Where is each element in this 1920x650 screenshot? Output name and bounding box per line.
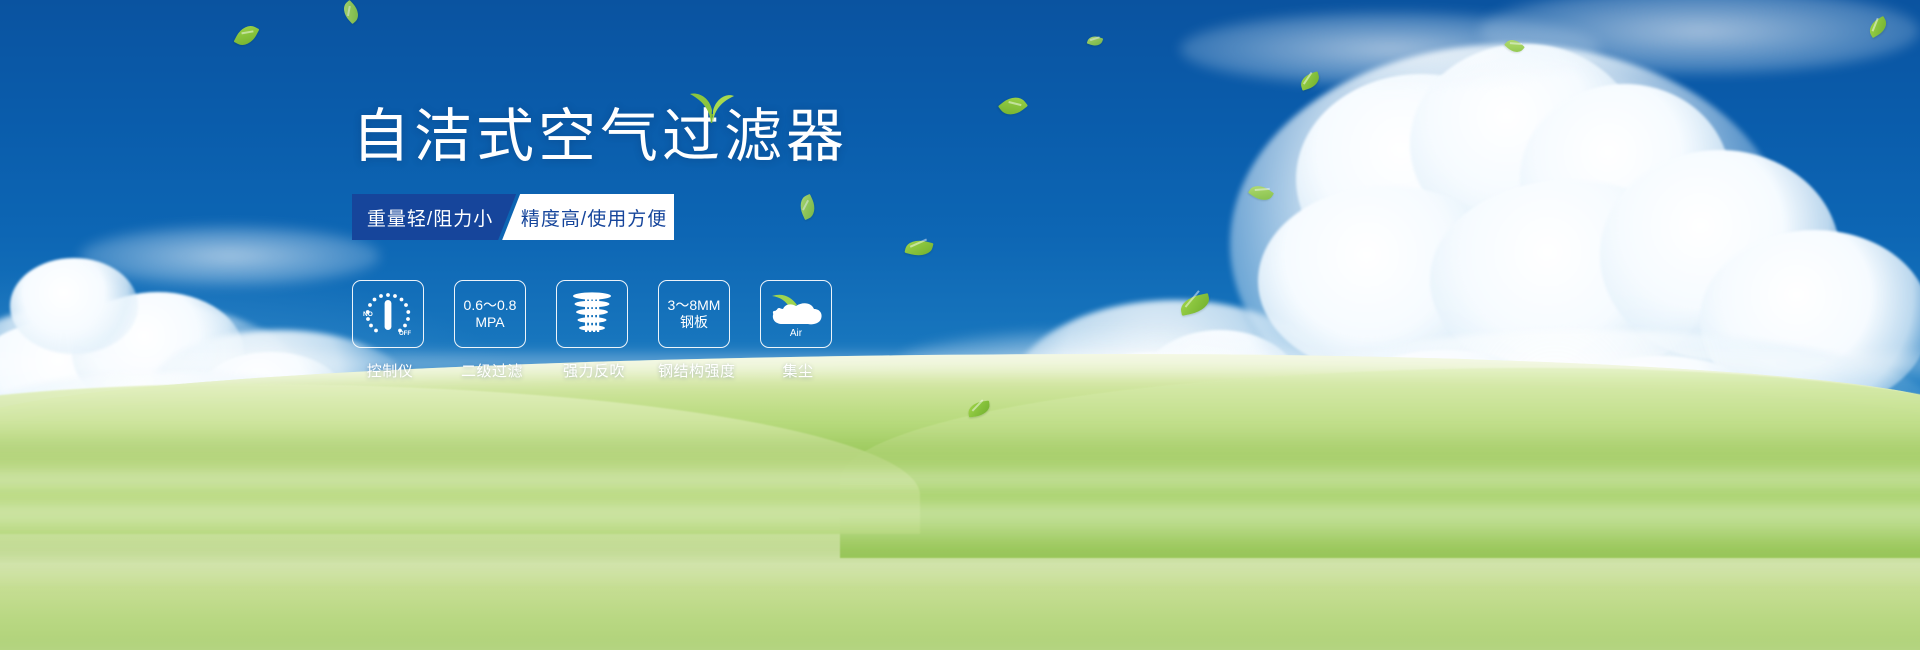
tagline-badge-secondary: 精度高/使用方便 xyxy=(502,194,674,240)
air-cloud-icon: Air xyxy=(766,288,826,340)
feature-item-backblow: 强力反吹 xyxy=(556,280,632,381)
backblow-filter-icon xyxy=(567,289,617,339)
product-hero-banner: 自洁式空气过滤器 重量轻/阻力小 精度高/使用方便 xyxy=(0,0,1920,650)
feature-item-filtration: 0.6～0.8 MPA 二级过滤 xyxy=(454,280,530,381)
cloud-air-label: Air xyxy=(790,328,803,339)
tagline-badge-primary: 重量轻/阻力小 xyxy=(352,194,516,240)
feature-icon-text: 0.6～0.8 MPA xyxy=(464,297,517,331)
feature-label: 强力反吹 xyxy=(556,360,632,381)
control-dial-icon: NO OFF xyxy=(359,288,417,340)
feature-list: NO OFF 控制仪 0.6～0.8 MPA 二级过滤 xyxy=(352,280,1132,381)
feature-item-controller: NO OFF 控制仪 xyxy=(352,280,428,381)
grass-highlight xyxy=(0,504,1920,548)
feature-icon-box xyxy=(556,280,628,348)
dial-off-label: OFF xyxy=(399,331,411,337)
feature-icon-box: 0.6～0.8 MPA xyxy=(454,280,526,348)
feature-icon-box: 3～8MM 钢板 xyxy=(658,280,730,348)
feature-icon-box: Air xyxy=(760,280,832,348)
sprout-leaf-icon xyxy=(685,90,739,124)
feature-label: 钢结构强度 xyxy=(658,360,734,381)
feature-icon-box: NO OFF xyxy=(352,280,424,348)
grass-field xyxy=(0,354,1920,650)
tagline-badges: 重量轻/阻力小 精度高/使用方便 xyxy=(352,194,674,240)
feature-icon-text: 3～8MM 钢板 xyxy=(668,297,721,331)
banner-content: 自洁式空气过滤器 重量轻/阻力小 精度高/使用方便 xyxy=(352,108,1132,381)
feature-label: 控制仪 xyxy=(352,360,428,381)
feature-label: 集尘 xyxy=(760,360,836,381)
feature-label: 二级过滤 xyxy=(454,360,530,381)
dial-on-label: NO xyxy=(363,311,373,318)
feature-item-dust-collection: Air 集尘 xyxy=(760,280,836,381)
page-title: 自洁式空气过滤器 xyxy=(352,108,1132,166)
grass-shadow xyxy=(0,542,1920,582)
feature-item-steel-strength: 3～8MM 钢板 钢结构强度 xyxy=(658,280,734,381)
grass-shadow xyxy=(0,440,1920,480)
